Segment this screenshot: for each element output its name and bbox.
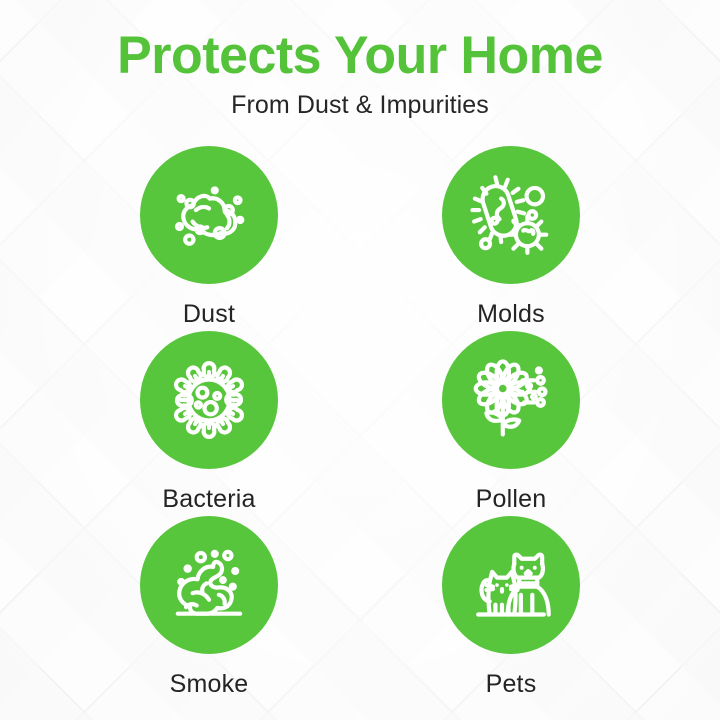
header: Protects Your Home From Dust & Impuritie… [0,0,720,120]
item-label-molds: Molds [477,297,545,331]
item-molds: Molds [360,146,662,331]
item-pollen: Pollen [360,331,662,516]
item-bacteria: Bacteria [58,331,360,516]
item-label-dust: Dust [183,297,235,331]
item-label-smoke: Smoke [170,667,249,701]
icon-badge-dust [140,146,278,284]
icon-badge-smoke [140,516,278,654]
icon-badge-pollen [442,331,580,469]
page-title: Protects Your Home [7,28,713,83]
protection-items-grid: Dust [0,146,720,701]
icon-badge-molds [442,146,580,284]
item-pets: Pets [360,516,662,701]
smoke-plume-icon [168,544,250,626]
item-label-pollen: Pollen [476,482,547,516]
item-dust: Dust [58,146,360,331]
page-subtitle: From Dust & Impurities [0,91,720,120]
virus-microbe-icon [168,359,250,441]
item-label-pets: Pets [486,667,537,701]
poster-root: Protects Your Home From Dust & Impuritie… [0,0,720,720]
item-label-bacteria: Bacteria [162,482,255,516]
item-smoke: Smoke [58,516,360,701]
mold-bacterium-icon [470,174,552,256]
icon-badge-bacteria [140,331,278,469]
icon-badge-pets [442,516,580,654]
dust-cloud-icon [168,174,250,256]
dog-and-cat-icon [470,544,552,626]
flower-pollen-icon [470,359,552,441]
